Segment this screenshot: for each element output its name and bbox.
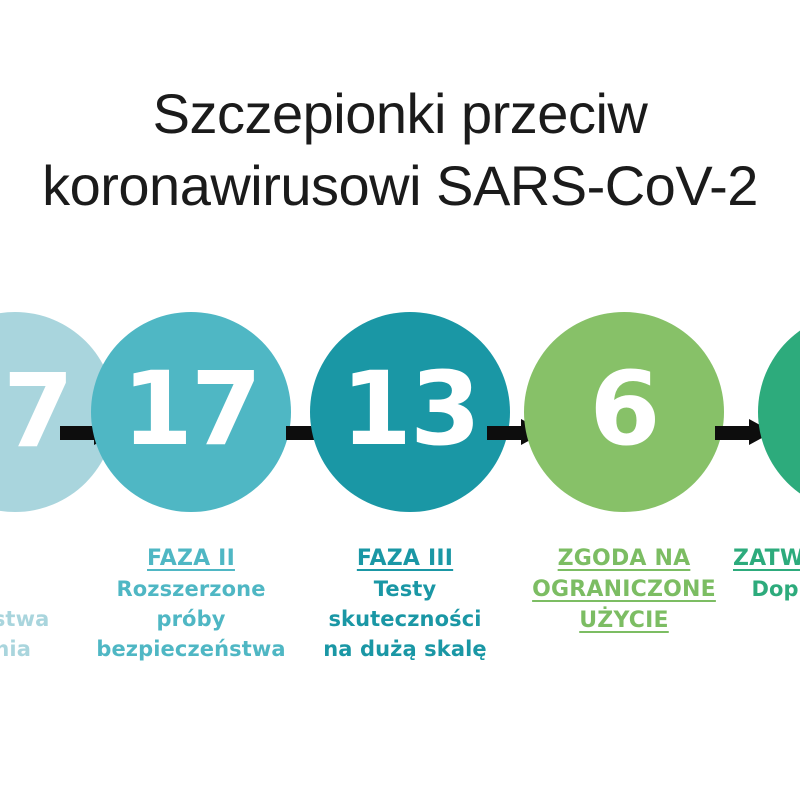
stage-label-body-line-2: próby — [76, 604, 306, 634]
stage-circle-faza-ii[interactable]: 17 — [91, 312, 291, 512]
page-title-line-1: Szczepionki przeciw — [0, 78, 800, 150]
stage-label-body-line-3: bezpieczeństwa — [76, 634, 306, 664]
arrow-shaft — [715, 426, 753, 440]
stage-number-faza-i: 7 — [3, 361, 72, 463]
stage-label-body-line-1: Dopuszczenie — [733, 574, 800, 604]
stage-number-faza-iii: 13 — [341, 359, 479, 461]
stage-label-heading: FAZA III — [302, 543, 508, 574]
page-title: Szczepionki przeciw koronawirusowi SARS-… — [0, 78, 800, 222]
stage-label-zatwierdzenie: ZATWIERDZENIE Dopuszczenie — [733, 543, 800, 604]
stage-label-heading: FAZA I — [0, 543, 40, 574]
stage-label-body-line-1: Testy — [302, 574, 508, 604]
stage-label-body-line-3: i dawkowania — [0, 634, 40, 664]
vaccine-pipeline-diagram: 7 17 13 6 — [0, 312, 800, 512]
stage-circle-zatwierdzenie[interactable] — [758, 312, 800, 512]
stage-label-heading: FAZA II — [76, 543, 306, 574]
page-title-line-2: koronawirusowi SARS-CoV-2 — [0, 150, 800, 222]
stage-number-faza-ii: 17 — [122, 359, 260, 461]
stage-label-faza-i: FAZA I Badanie bezpieczeństwa i dawkowan… — [0, 543, 40, 664]
stage-label-body-line-2: bezpieczeństwa — [0, 604, 40, 634]
stage-number-zgoda: 6 — [590, 359, 659, 461]
stage-label-body-line-2: skuteczności — [302, 604, 508, 634]
stage-label-zgoda-ograniczone-uzycie: ZGODA NA OGRANICZONE UŻYCIE — [515, 543, 733, 636]
stage-circle-faza-iii[interactable]: 13 — [310, 312, 510, 512]
stage-label-body-line-1: Badanie — [0, 574, 40, 604]
stage-label-faza-iii: FAZA III Testy skuteczności na dużą skal… — [302, 543, 508, 664]
stage-labels: FAZA I Badanie bezpieczeństwa i dawkowan… — [0, 543, 800, 683]
stage-label-faza-ii: FAZA II Rozszerzone próby bezpieczeństwa — [76, 543, 306, 664]
stage-circle-zgoda-ograniczone-uzycie[interactable]: 6 — [524, 312, 724, 512]
stage-label-body-line-3: na dużą skalę — [302, 634, 508, 664]
stage-label-heading: ZGODA NA OGRANICZONE UŻYCIE — [515, 543, 733, 636]
stage-label-body-line-1: Rozszerzone — [76, 574, 306, 604]
arrow-shaft — [487, 426, 525, 440]
stage-label-heading: ZATWIERDZENIE — [733, 543, 800, 574]
